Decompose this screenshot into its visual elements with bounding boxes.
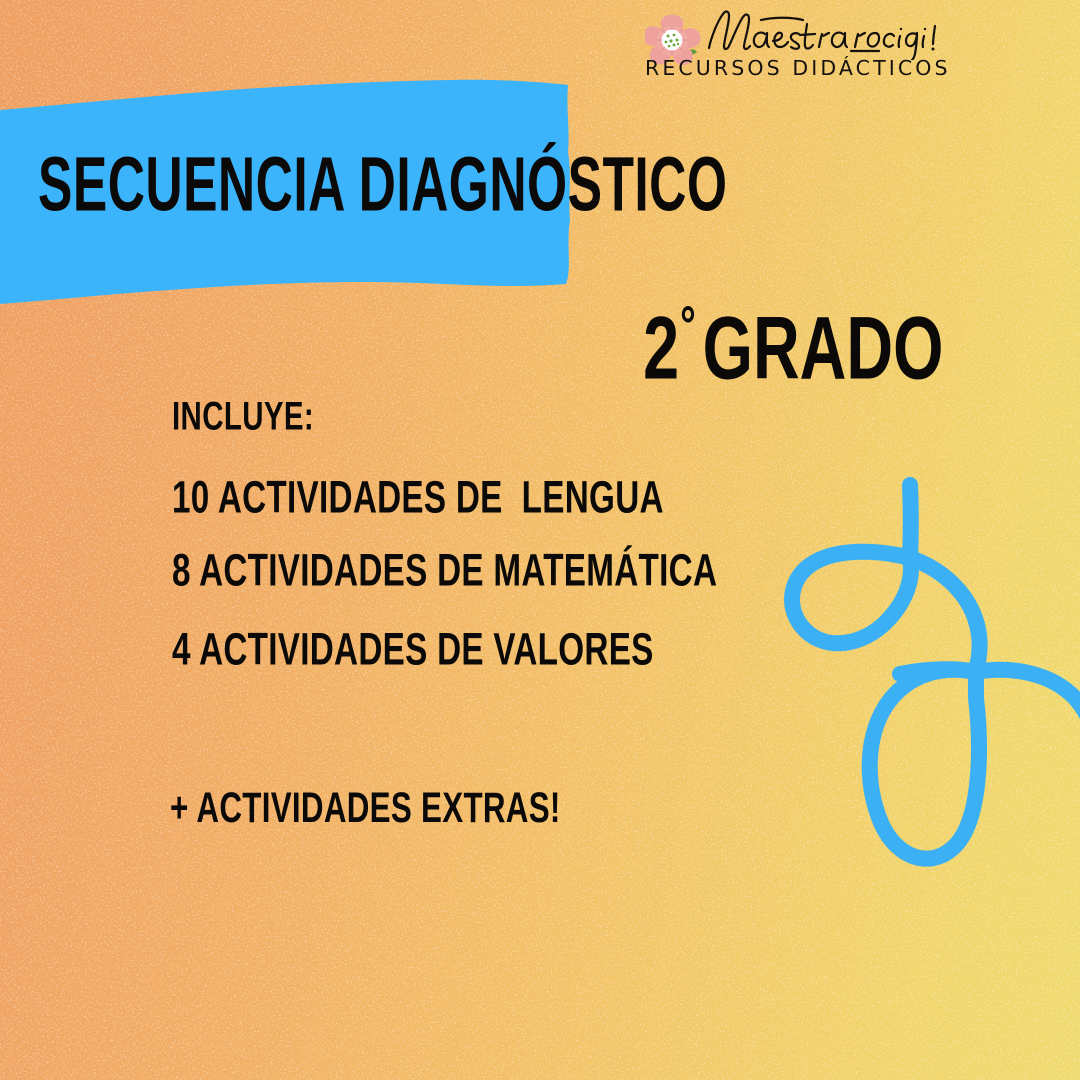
- list-item: 10 ACTIVIDADES DE LENGUA: [172, 472, 664, 524]
- brand-script-name: [703, 4, 949, 60]
- list-item: 8 ACTIVIDADES DE MATEMÁTICA: [172, 545, 717, 597]
- includes-heading: INCLUYE:: [172, 393, 314, 440]
- brand-subtitle: RECURSOS DIDÁCTICOS: [645, 56, 951, 80]
- brand-logo: RECURSOS DIDÁCTICOS: [645, 6, 945, 86]
- list-item: 4 ACTIVIDADES DE VALORES: [172, 624, 654, 676]
- promotional-poster: RECURSOS DIDÁCTICOS SECUENCIA DIAGNÓSTIC…: [0, 0, 1080, 1080]
- extras-line: + ACTIVIDADES EXTRAS!: [170, 783, 561, 832]
- grade-heading: 2°GRADO: [643, 296, 943, 399]
- grade-label: GRADO: [702, 297, 943, 397]
- banner-title: SECUENCIA DIAGNÓSTICO: [38, 140, 727, 228]
- blue-loop-doodle: [760, 450, 1080, 890]
- banner: SECUENCIA DIAGNÓSTICO: [0, 78, 640, 308]
- grade-number: 2: [643, 297, 679, 397]
- degree-symbol: °: [680, 296, 696, 355]
